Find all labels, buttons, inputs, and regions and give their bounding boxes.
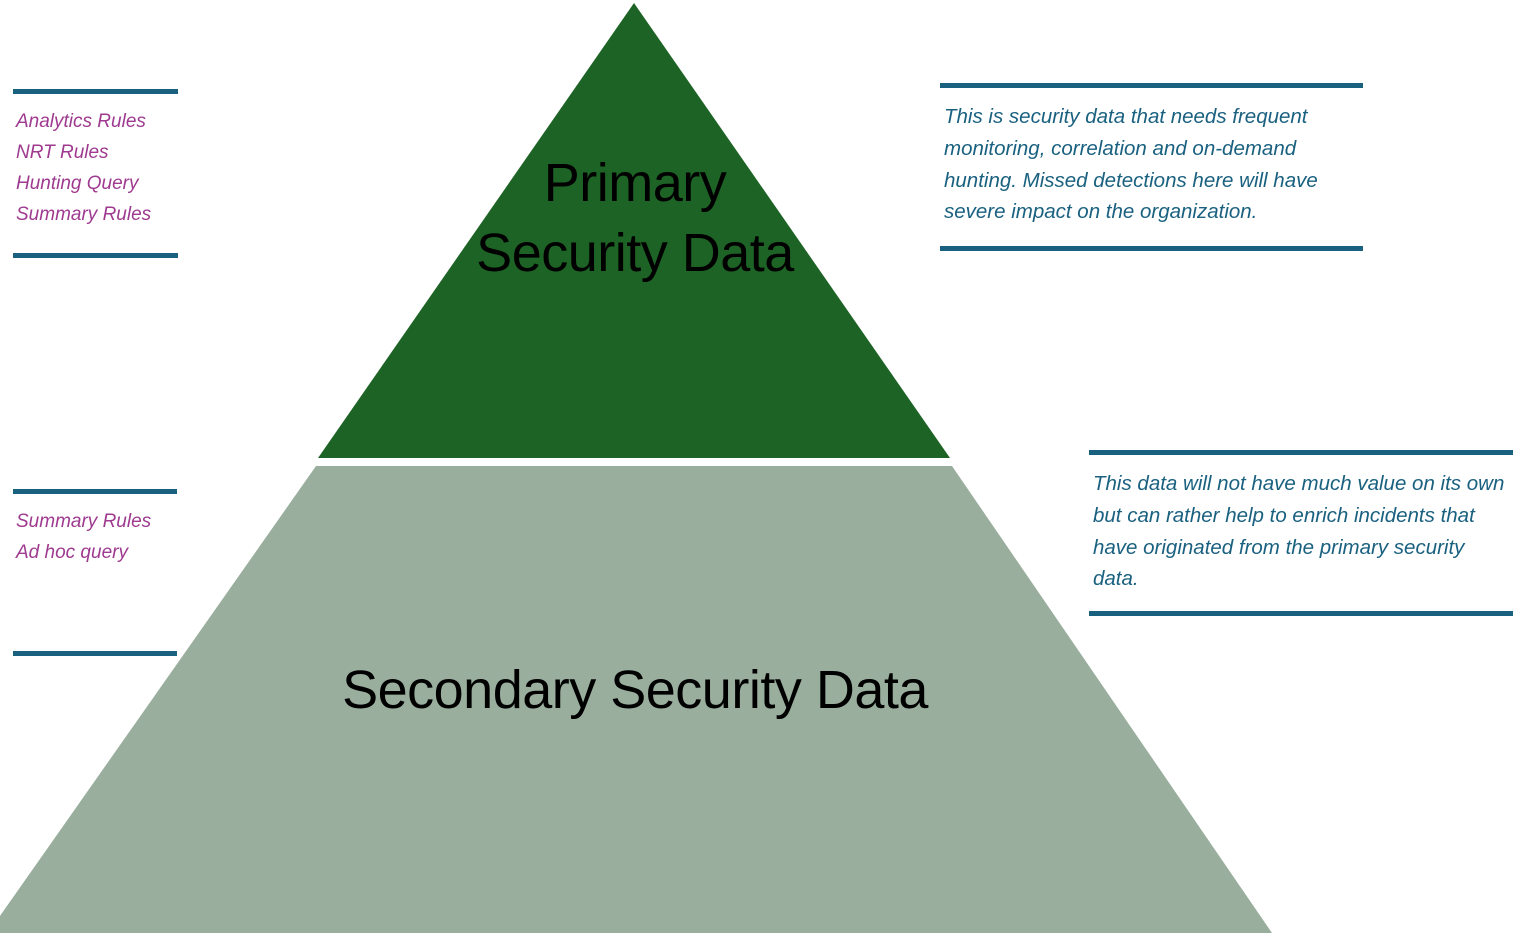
list-item: NRT Rules [16,138,178,169]
rule-line-bottom [13,253,178,258]
annotation-secondary-description: This data will not have much value on it… [1089,450,1513,616]
list-item: Ad hoc query [16,538,177,569]
annotation-primary-description: This is security data that needs frequen… [940,83,1363,251]
list-item: Analytics Rules [16,107,178,138]
annotation-body: Analytics Rules NRT Rules Hunting Query … [13,94,178,253]
pyramid-tier-primary-label: Primary Security Data [350,148,920,288]
rule-line-bottom [13,651,177,656]
pyramid-tier-secondary-label: Secondary Security Data [320,655,950,725]
diagram-canvas: Primary Security Data Secondary Security… [0,0,1513,933]
annotation-secondary-rules: Summary Rules Ad hoc query [13,489,177,656]
list-item: Summary Rules [16,200,178,231]
description-text: This data will not have much value on it… [1093,468,1513,595]
annotation-body: This is security data that needs frequen… [940,88,1363,246]
list-item: Hunting Query [16,169,178,200]
annotation-primary-rules: Analytics Rules NRT Rules Hunting Query … [13,89,178,258]
annotation-body: Summary Rules Ad hoc query [13,494,177,651]
description-text: This is security data that needs frequen… [944,101,1363,228]
list-item: Summary Rules [16,507,177,538]
rule-line-bottom [1089,611,1513,616]
annotation-body: This data will not have much value on it… [1089,455,1513,611]
rule-line-bottom [940,246,1363,251]
